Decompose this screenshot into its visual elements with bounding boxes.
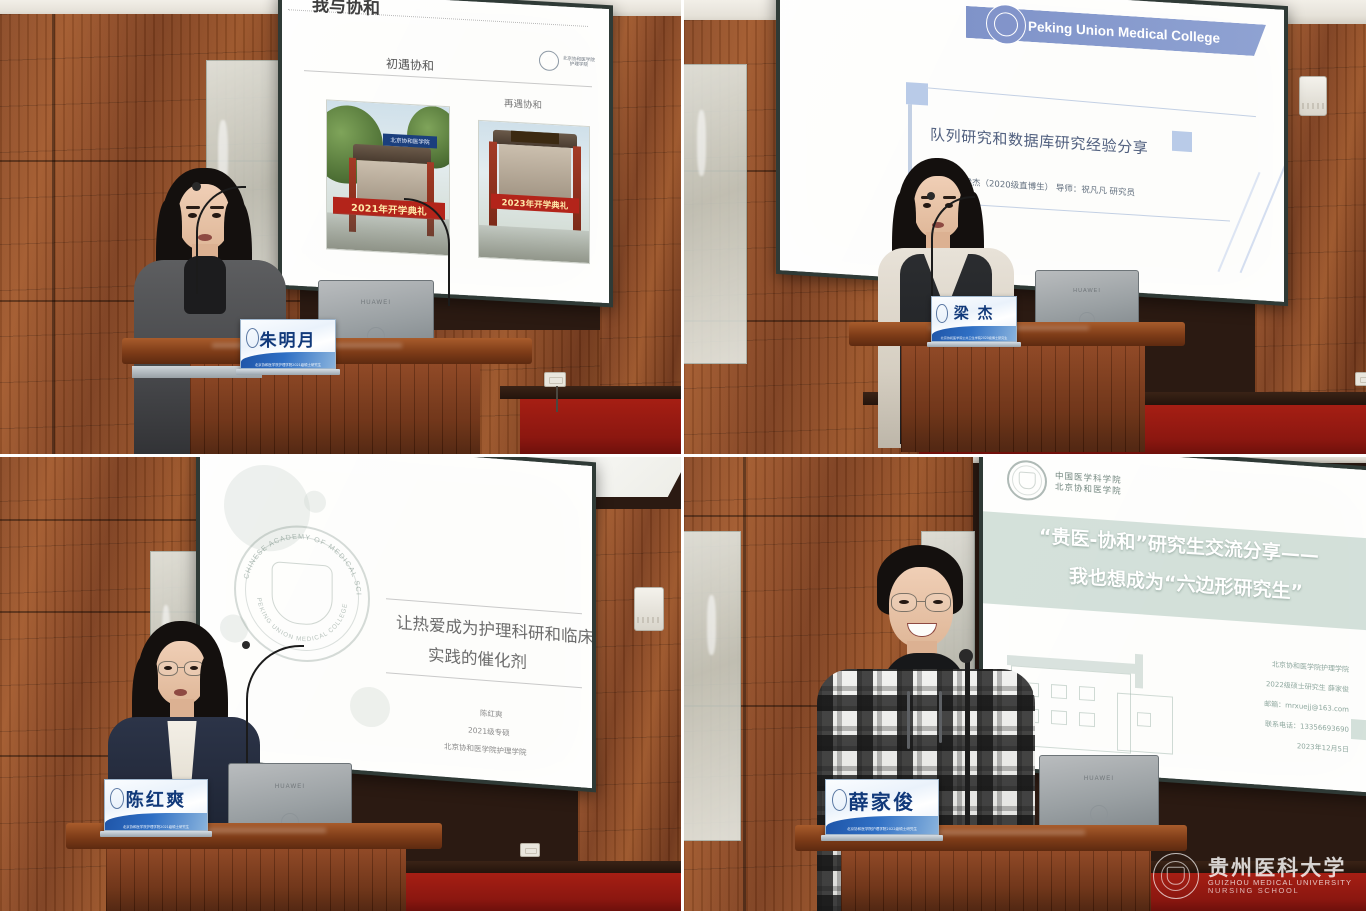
placard-sub-3: 北京协和医学院护理学院2021级硕士研究生 xyxy=(105,824,207,829)
glass-glint xyxy=(697,110,706,176)
laptop-lid-4[interactable]: HUAWEI xyxy=(1039,755,1159,835)
photo-crowd xyxy=(479,225,589,263)
name-placard-1: 朱明月 北京协和医学院护理学院2021级硕士研究生 xyxy=(240,319,336,369)
slide1-photo-right: 2023年开学典礼 xyxy=(478,120,590,264)
eye xyxy=(164,666,172,670)
placard-stand-3 xyxy=(100,831,212,837)
placard-name-4: 薛家俊 xyxy=(826,786,938,815)
seal-crest-icon xyxy=(1167,867,1185,885)
panel-4-xue-jiajun: 中国医学科学院 北京协和医学院 “贵医-协和”研究生交流分享—— 我也想成为“六… xyxy=(683,455,1366,911)
laptop-brand-1: HUAWEI xyxy=(319,300,433,306)
microphone-stem-4 xyxy=(965,655,970,845)
microphone-head-1 xyxy=(192,182,201,191)
name-placard-4: 薛家俊 北京协和医学院护理学院2022级硕士研究生 xyxy=(825,779,939,835)
building-window xyxy=(1051,710,1067,725)
watermark-name-cn: 贵州医科大学 xyxy=(1208,857,1352,879)
wall-socket-icon xyxy=(1355,372,1366,386)
watermark-name-en2: NURSING SCHOOL xyxy=(1208,887,1352,895)
wood-seam xyxy=(743,455,746,911)
hoodie-string xyxy=(939,691,942,743)
neck xyxy=(170,699,194,719)
red-carpet-1 xyxy=(520,396,683,455)
placard-sub-2: 北京协和医学院公共卫生学院2020级博士研究生 xyxy=(932,335,1016,340)
mouth xyxy=(174,689,187,696)
photo-pillar xyxy=(489,141,497,225)
seal-crest-icon xyxy=(1019,472,1036,490)
building-window xyxy=(1079,712,1095,727)
seal-outer-text: CHINESE ACADEMY OF MEDICAL SCIENCES xyxy=(236,523,363,597)
microphone-head-3 xyxy=(242,641,250,649)
eyeglass-bridge xyxy=(178,667,184,668)
eye xyxy=(190,666,198,670)
glass-wall-panel-2 xyxy=(683,64,747,364)
placard-sub-4: 北京协和医学院护理学院2022级硕士研究生 xyxy=(826,827,938,832)
slide4-logo: 中国医学科学院 北京协和医学院 xyxy=(1007,459,1122,507)
collage-divider-horizontal xyxy=(0,454,1366,457)
name-placard-3: 陈红爽 北京协和医学院护理学院2021级硕士研究生 xyxy=(104,779,208,831)
microphone-head-2 xyxy=(927,192,935,200)
placard-stand-2 xyxy=(927,342,1021,347)
eyebrow xyxy=(186,206,200,209)
placard-stand-1 xyxy=(236,369,340,375)
pumc-seal-icon xyxy=(539,50,559,71)
slide1-section-right: 再遇协和 xyxy=(504,95,542,111)
wall-socket-icon xyxy=(520,843,540,857)
laptop-brand-2: HUAWEI xyxy=(1036,288,1138,294)
glass-glint xyxy=(707,595,716,655)
eyebrow xyxy=(943,196,956,199)
watermark-text: 贵州医科大学 GUIZHOU MEDICAL UNIVERSITY NURSIN… xyxy=(1208,857,1352,895)
wood-seam xyxy=(0,519,210,521)
building-pavilion-roof xyxy=(1135,654,1143,689)
photo-collage: 我与协和 北京协和医学院 护理学院 初遇协和 再遇协和 xyxy=(0,0,1366,911)
eye xyxy=(923,203,931,208)
eye xyxy=(899,600,909,604)
panel-3-chen-hongshuang: CHINESE ACADEMY OF MEDICAL SCIENCES PEKI… xyxy=(0,455,683,911)
panel-1-zhu-mingyue: 我与协和 北京协和医学院 护理学院 初遇协和 再遇协和 xyxy=(0,0,683,455)
slide1-section-left: 初遇协和 xyxy=(386,55,434,75)
laptop-seal-icon xyxy=(1090,805,1108,823)
slide2-decor-square xyxy=(1172,131,1192,152)
placard-name-1: 朱明月 xyxy=(241,326,335,351)
placard-stand-4 xyxy=(821,835,943,841)
projection-screen-2: Peking Union Medical College 队列研究和数据库研究经… xyxy=(780,0,1284,302)
podium-body-2 xyxy=(901,346,1145,452)
podium-body-4 xyxy=(841,851,1151,911)
wall-socket-icon xyxy=(544,372,566,387)
power-cable xyxy=(556,386,558,412)
building-window xyxy=(1051,684,1067,699)
slide1-logo: 北京协和医学院 护理学院 xyxy=(539,50,595,73)
building-window xyxy=(1079,686,1095,701)
wood-seam xyxy=(683,515,973,517)
eye xyxy=(933,600,943,604)
panel-2-liang-jie: Peking Union Medical College 队列研究和数据库研究经… xyxy=(683,0,1366,455)
name-placard-2: 梁 杰 北京协和医学院公共卫生学院2020级博士研究生 xyxy=(931,296,1017,342)
university-watermark: 贵州医科大学 GUIZHOU MEDICAL UNIVERSITY NURSIN… xyxy=(1153,853,1352,899)
slide3-sub-line1: 陈红爽 xyxy=(480,707,503,720)
slide4-decor-square xyxy=(1351,719,1366,740)
slide2-band-text: Peking Union Medical College xyxy=(1028,18,1220,45)
photo-pillar xyxy=(573,146,581,230)
ac-control-box-icon xyxy=(1299,76,1327,116)
laptop-brand-3: HUAWEI xyxy=(229,784,351,790)
eye xyxy=(188,213,197,218)
university-seal-icon xyxy=(1153,853,1199,899)
glass-wall-panel-4 xyxy=(683,531,741,841)
placard-name-3: 陈红爽 xyxy=(105,786,207,812)
microphone-head-4 xyxy=(959,649,973,663)
placard-name-2: 梁 杰 xyxy=(932,302,1016,323)
projection-screen-frame-2: Peking Union Medical College 队列研究和数据库研究经… xyxy=(776,0,1288,306)
slide1-logo-line2: 护理学院 xyxy=(563,62,595,69)
podium-body-3 xyxy=(106,849,406,911)
placard-sub-1: 北京协和医学院护理学院2021级硕士研究生 xyxy=(241,362,335,367)
ac-control-box-icon xyxy=(634,587,664,631)
building-window xyxy=(1137,712,1151,727)
eyeglass-bridge xyxy=(917,601,925,602)
wood-seam xyxy=(52,14,55,455)
slide2-decor-square xyxy=(906,82,928,105)
laptop-brand-4: HUAWEI xyxy=(1040,776,1158,782)
svg-text:CHINESE ACADEMY OF MEDICAL SCI: CHINESE ACADEMY OF MEDICAL SCIENCES xyxy=(236,523,363,597)
hoodie-string xyxy=(907,691,910,749)
pumc-seal-icon-4 xyxy=(1007,459,1047,502)
